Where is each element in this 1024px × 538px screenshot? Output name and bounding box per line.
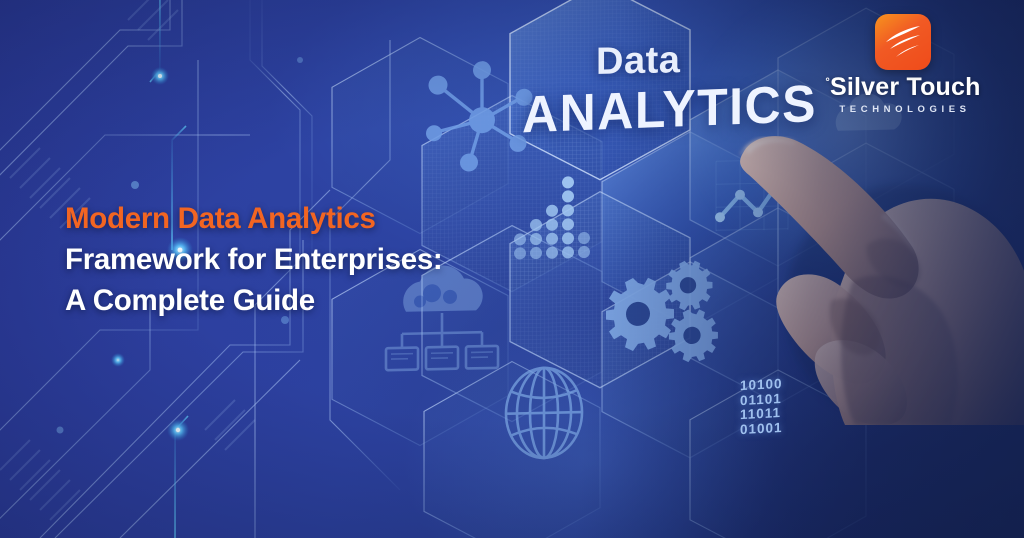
headline-line-1: Modern Data Analytics — [65, 198, 535, 239]
page-title: Modern Data Analytics Framework for Ente… — [65, 198, 535, 321]
binary-row-4: 01001 — [740, 420, 783, 437]
headline-line-3: A Complete Guide — [65, 280, 535, 321]
brand-name: °Silver Touch — [825, 75, 980, 100]
headline-line-2: Framework for Enterprises: — [65, 239, 535, 280]
hero-banner: Data ANALYTICS 10100 01101 11011 01001 — [0, 0, 1024, 538]
binary-code-icon: 10100 01101 11011 01001 — [740, 377, 783, 437]
swoosh-glyph — [882, 23, 924, 61]
brand-logo[interactable]: °Silver Touch TECHNOLOGIES — [798, 14, 1008, 115]
brand-tagline: TECHNOLOGIES — [835, 104, 970, 115]
brand-name-text: Silver Touch — [830, 73, 981, 101]
swoosh-comet-icon — [875, 14, 931, 70]
